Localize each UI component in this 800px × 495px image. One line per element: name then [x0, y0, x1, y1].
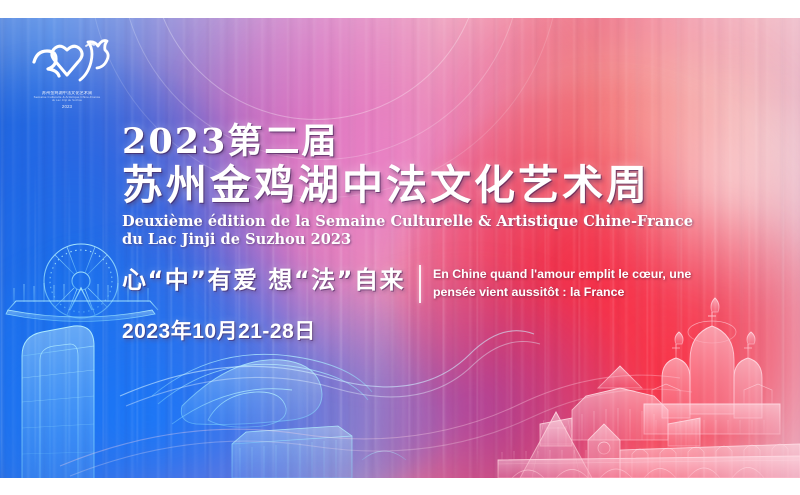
louvre-pyramid-icon — [520, 412, 592, 478]
decorative-arc-inner — [150, 18, 482, 120]
event-logo: 苏州金鸡湖中法文化艺术周 Semaine Culturelle & Artist… — [24, 32, 110, 124]
title-line-2: 苏州金鸡湖中法文化艺术周 — [122, 163, 722, 208]
slogan-divider — [419, 265, 421, 303]
suzhou-museum-roof-icon — [181, 360, 322, 427]
ferris-wheel-icon — [44, 244, 118, 318]
logo-sub-name: du Lac Jinji de Suzhou — [24, 99, 110, 102]
palais-garnier-icon — [540, 356, 700, 446]
headline-block: 2023第二届 苏州金鸡湖中法文化艺术周 Deuxième édition de… — [122, 124, 722, 345]
title-line-1: 2023第二届 — [122, 124, 722, 161]
rooster-heart-emblem-icon — [24, 32, 110, 90]
top-white-margin — [0, 0, 800, 18]
chinese-slogan: 心“中”有爱 想“法”自来 — [122, 263, 405, 294]
gate-of-the-orient-icon — [22, 326, 94, 478]
arc-colonnade-icon — [588, 416, 800, 478]
suzhou-waterfront-pavilion-icon — [232, 426, 406, 478]
silk-ribbon-icon — [60, 331, 692, 476]
event-dates: 2023年10月21-28日 — [122, 315, 722, 345]
bottom-white-margin — [0, 478, 800, 495]
seine-bridge-icon — [498, 450, 800, 478]
logo-year: 2023 — [24, 104, 110, 109]
poster-stage: 苏州金鸡湖中法文化艺术周 Semaine Culturelle & Artist… — [0, 0, 800, 495]
poster-artwork: 苏州金鸡湖中法文化艺术周 Semaine Culturelle & Artist… — [0, 18, 800, 478]
french-subtitle: Deuxième édition de la Semaine Culturell… — [122, 213, 697, 250]
french-slogan: En Chine quand l'amour emplit le cœur, u… — [433, 263, 703, 302]
slogan-row: 心“中”有爱 想“法”自来 En Chine quand l'amour emp… — [122, 263, 722, 303]
suzhou-arch-icon — [152, 354, 372, 424]
